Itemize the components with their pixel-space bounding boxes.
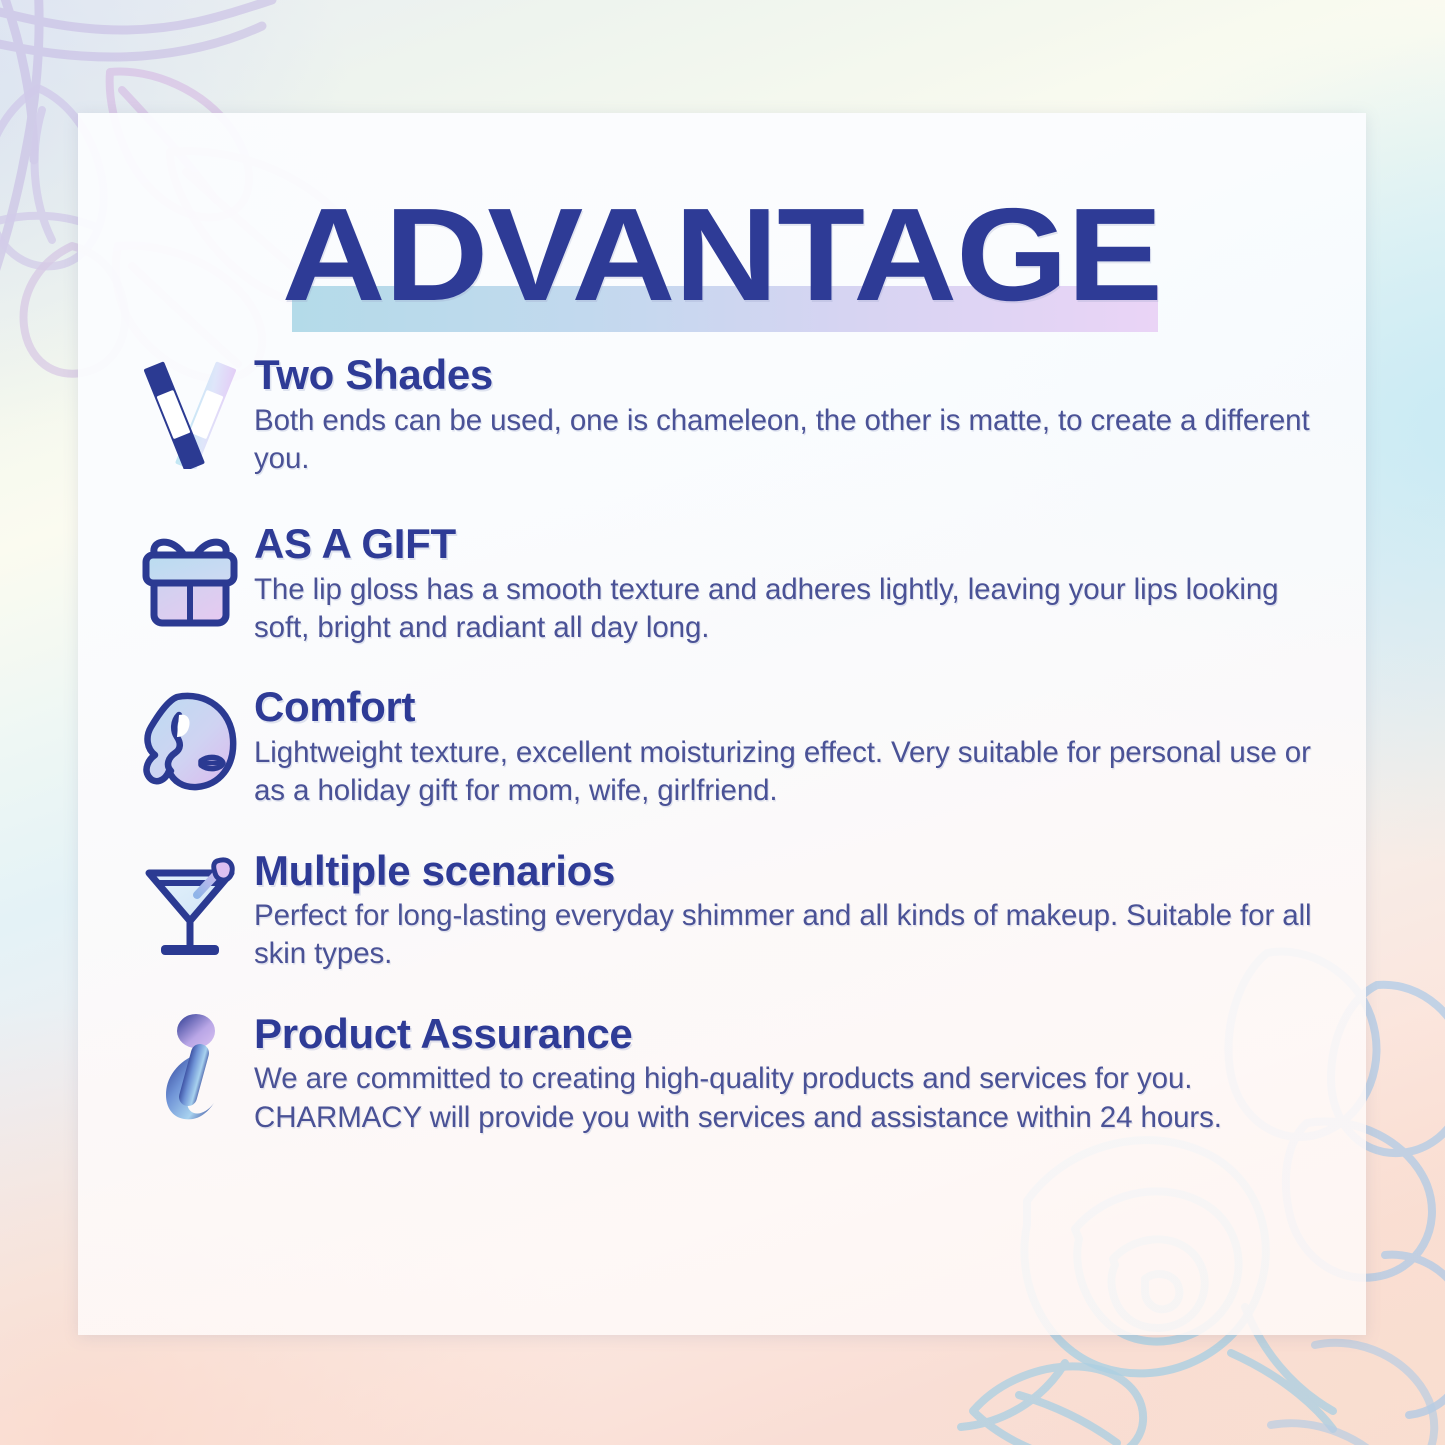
feature-item-as-a-gift: AS A GIFT The lip gloss has a smooth tex… bbox=[126, 520, 1326, 647]
feature-title: Comfort bbox=[254, 685, 1326, 730]
gift-box-icon bbox=[126, 520, 254, 638]
information-italic-i-icon bbox=[126, 1010, 254, 1128]
feature-text-block: Multiple scenarios Perfect for long-last… bbox=[254, 847, 1326, 974]
feature-title: Two Shades bbox=[254, 353, 1326, 398]
page-title: ADVANTAGE bbox=[282, 189, 1162, 321]
feature-text-block: Two Shades Both ends can be used, one is… bbox=[254, 351, 1326, 478]
feature-body: Perfect for long-lasting everyday shimme… bbox=[254, 897, 1326, 974]
page-title-block: ADVANTAGE bbox=[78, 185, 1366, 325]
feature-text-block: Product Assurance We are committed to cr… bbox=[254, 1010, 1326, 1137]
feature-item-product-assurance: Product Assurance We are committed to cr… bbox=[126, 1010, 1326, 1137]
feature-list: Two Shades Both ends can be used, one is… bbox=[126, 351, 1326, 1137]
feature-text-block: AS A GIFT The lip gloss has a smooth tex… bbox=[254, 520, 1326, 647]
feature-body: Both ends can be used, one is chameleon,… bbox=[254, 402, 1326, 479]
feature-item-two-shades: Two Shades Both ends can be used, one is… bbox=[126, 351, 1326, 478]
feature-title: AS A GIFT bbox=[254, 522, 1326, 567]
woman-face-icon bbox=[126, 683, 254, 801]
feature-text-block: Comfort Lightweight texture, excellent m… bbox=[254, 683, 1326, 810]
cocktail-glass-icon bbox=[126, 847, 254, 965]
crossed-lipstick-wands-icon bbox=[126, 351, 254, 469]
feature-item-multiple-scenarios: Multiple scenarios Perfect for long-last… bbox=[126, 847, 1326, 974]
feature-body: Lightweight texture, excellent moisturiz… bbox=[254, 734, 1326, 811]
content-card: ADVANTAGE bbox=[78, 113, 1366, 1335]
feature-body: The lip gloss has a smooth texture and a… bbox=[254, 571, 1326, 648]
feature-title: Product Assurance bbox=[254, 1012, 1326, 1057]
feature-title: Multiple scenarios bbox=[254, 849, 1326, 894]
advantage-infographic-poster: ADVANTAGE bbox=[0, 0, 1445, 1445]
feature-body: We are committed to creating high-qualit… bbox=[254, 1060, 1326, 1137]
feature-item-comfort: Comfort Lightweight texture, excellent m… bbox=[126, 683, 1326, 810]
